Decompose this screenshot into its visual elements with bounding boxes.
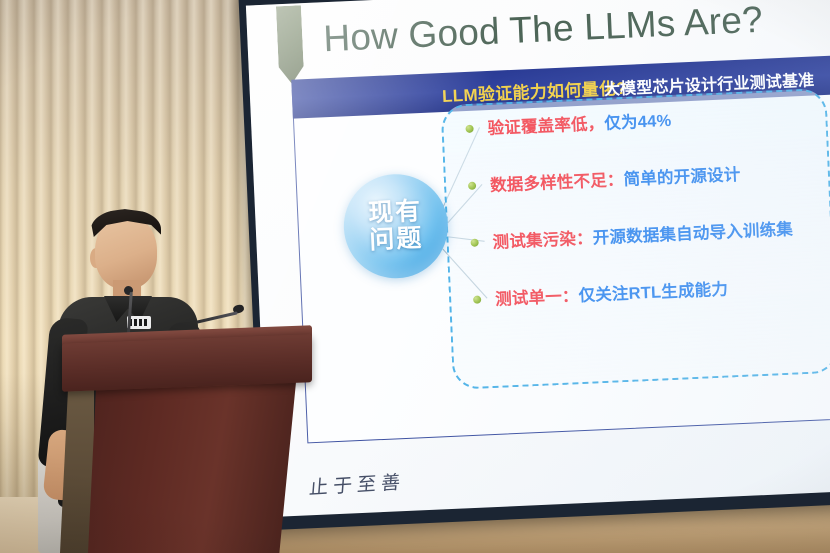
bullet-lead: 测试单一： xyxy=(495,287,579,309)
hub-label-line2: 问题 xyxy=(369,225,424,254)
bullet-detail: 仅关注RTL生成能力 xyxy=(578,281,728,306)
bullet-lead: 数据多样性不足： xyxy=(490,171,624,195)
bullet-detail: 简单的开源设计 xyxy=(623,166,741,189)
bullet-detail: 仅为44% xyxy=(604,112,672,133)
podium-body xyxy=(88,382,296,553)
projection-screen: How Good The LLMs Are? LLM验证能力如何量化? 大模型芯… xyxy=(238,0,830,530)
bullet-dot-icon xyxy=(470,239,478,247)
presentation-photo: How Good The LLMs Are? LLM验证能力如何量化? 大模型芯… xyxy=(0,0,830,553)
bullet-dot-icon xyxy=(465,125,473,133)
footer-calligraphy: 止于至善 xyxy=(308,467,406,500)
bullet-lead: 测试集污染： xyxy=(492,229,593,251)
bullet-dot-icon xyxy=(468,182,476,190)
bullet-lead: 验证覆盖率低， xyxy=(487,115,605,138)
bullet-dot-icon xyxy=(473,295,481,303)
slide-title: How Good The LLMs Are? xyxy=(323,0,764,60)
slide-surface: How Good The LLMs Are? LLM验证能力如何量化? 大模型芯… xyxy=(246,0,830,517)
bullet-list: 验证覆盖率低，仅为44% 数据多样性不足：简单的开源设计 测试集污染：开源数据集… xyxy=(465,100,825,343)
bullet-detail: 开源数据集自动导入训练集 xyxy=(592,221,793,248)
podium-top xyxy=(62,334,312,392)
hub-label-line1: 现有 xyxy=(368,198,423,227)
